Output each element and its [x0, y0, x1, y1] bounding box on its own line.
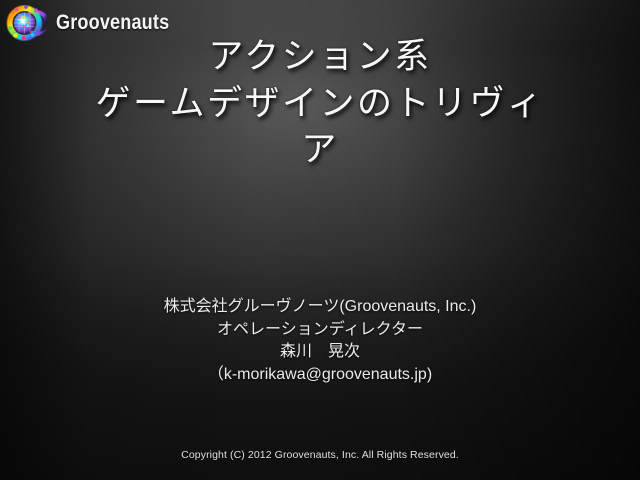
- presenter-email: （k-morikawa@groovenauts.jp): [0, 364, 640, 387]
- brand-wordmark: Groovenauts: [56, 11, 169, 35]
- presenter-name: 森川 晃次: [0, 341, 640, 364]
- slide-title: アクション系 ゲームデザインのトリヴィ ア: [34, 34, 606, 174]
- presenter-block: 株式会社グルーヴノーツ(Groovenauts, Inc.) オペレーションディ…: [0, 296, 640, 387]
- presenter-company: 株式会社グルーヴノーツ(Groovenauts, Inc.): [0, 296, 640, 319]
- presenter-role: オペレーションディレクター: [0, 319, 640, 342]
- presentation-slide: Groovenauts アクション系 ゲームデザインのトリヴィ ア 株式会社グル…: [0, 0, 640, 480]
- groovenauts-sphere-logo-icon: [6, 2, 50, 44]
- brand-lockup: Groovenauts: [6, 2, 188, 44]
- copyright-footer: Copyright (C) 2012 Groovenauts, Inc. All…: [0, 449, 640, 461]
